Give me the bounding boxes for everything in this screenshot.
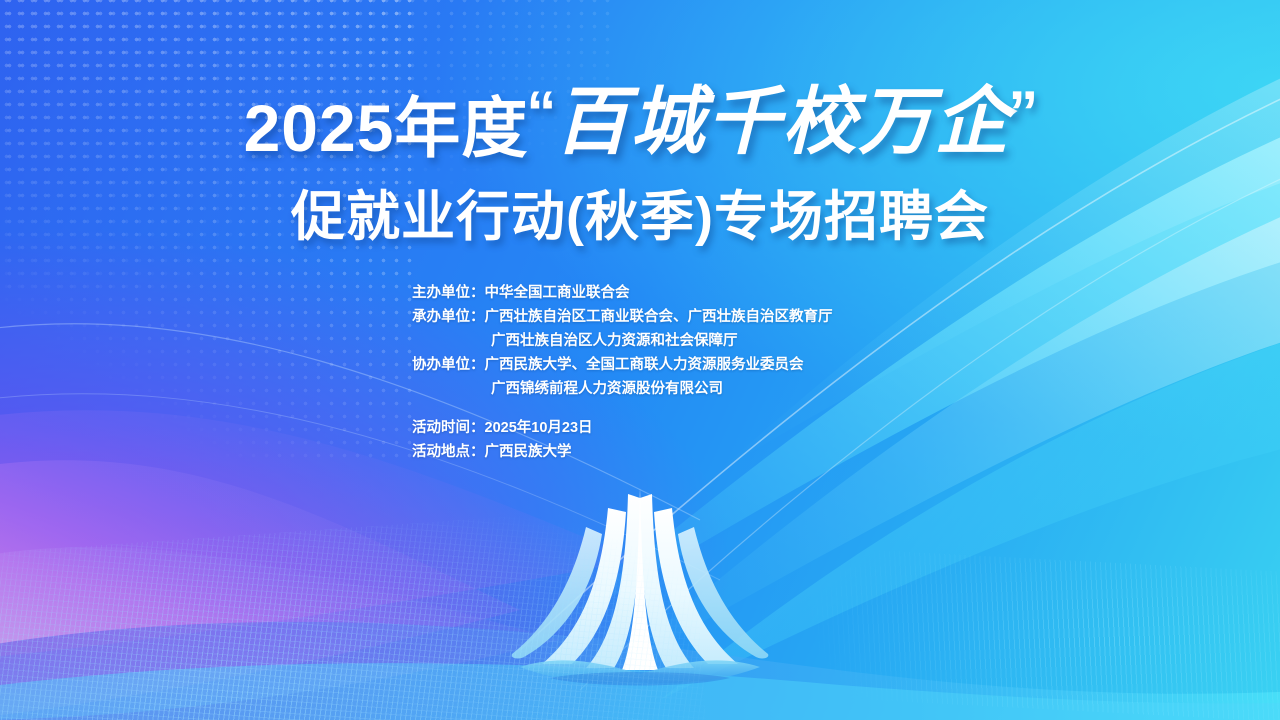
poster-headline: 2025年度“百城千校万企”	[0, 62, 1280, 171]
coorganizer-label: 协办单位：	[412, 357, 485, 373]
event-poster: 2025年度“百城千校万企” 促就业行动(秋季)专场招聘会 主办单位：中华全国工…	[0, 0, 1280, 720]
host-row: 承办单位：广西壮族自治区工商业联合会、广西壮族自治区教育厅	[412, 305, 932, 329]
event-place-value: 广西民族大学	[485, 444, 572, 460]
info-spacer	[412, 401, 932, 416]
host-label: 承办单位：	[412, 309, 485, 325]
event-info-block: 主办单位：中华全国工商业联合会 承办单位：广西壮族自治区工商业联合会、广西壮族自…	[412, 281, 932, 464]
event-place-row: 活动地点：广西民族大学	[412, 440, 932, 464]
event-time-value: 2025年10月23日	[485, 420, 593, 436]
organizer-value: 中华全国工商业联合会	[485, 285, 630, 301]
headline-quote-open: “	[526, 79, 556, 146]
headline-brush-slogan: 百城千校万企	[554, 79, 1010, 165]
host-value-line1: 广西壮族自治区工商业联合会、广西壮族自治区教育厅	[485, 309, 833, 325]
coorganizer-value-line2-row: 广西锦绣前程人力资源股份有限公司	[412, 377, 932, 401]
host-value-line2: 广西壮族自治区人力资源和社会保障厅	[491, 333, 738, 349]
coorganizer-value-line2: 广西锦绣前程人力资源股份有限公司	[491, 381, 723, 397]
event-place-label: 活动地点：	[412, 444, 485, 460]
poster-subheadline: 促就业行动(秋季)专场招聘会	[0, 172, 1280, 251]
organizer-row: 主办单位：中华全国工商业联合会	[412, 281, 932, 305]
event-time-label: 活动时间：	[412, 420, 485, 436]
coorganizer-value-line1: 广西民族大学、全国工商联人力资源服务业委员会	[485, 357, 804, 373]
mesh-grid-decoration-left	[0, 504, 707, 720]
headline-quote-close: ”	[1008, 79, 1038, 146]
headline-year: 2025年度	[244, 91, 529, 165]
organizer-label: 主办单位：	[412, 285, 485, 301]
host-value-line2-row: 广西壮族自治区人力资源和社会保障厅	[412, 329, 932, 353]
coorganizer-row: 协办单位：广西民族大学、全国工商联人力资源服务业委员会	[412, 353, 932, 377]
mesh-grid-decoration-right	[796, 546, 1280, 720]
event-time-row: 活动时间：2025年10月23日	[412, 416, 932, 440]
